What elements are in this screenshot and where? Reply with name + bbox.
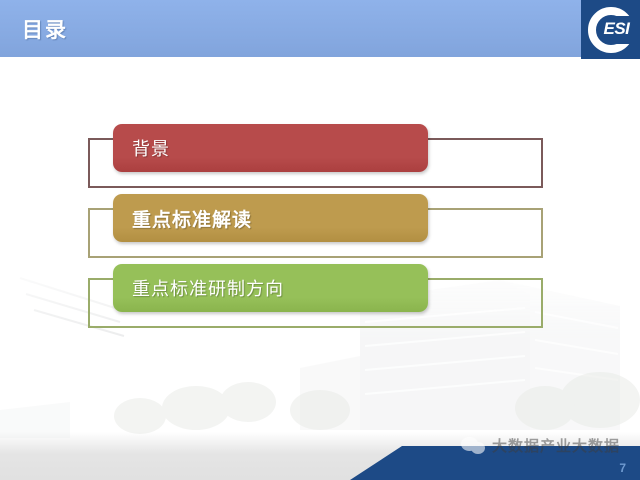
toc-item-1-pill[interactable]: 背景 (113, 124, 428, 172)
toc-item-1[interactable]: 背景 (88, 124, 543, 188)
toc-item-2-label: 重点标准解读 (132, 205, 252, 232)
toc-item-2[interactable]: 重点标准解读 (88, 194, 543, 258)
toc-item-3-pill[interactable]: 重点标准研制方向 (113, 264, 428, 312)
toc-item-3-label: 重点标准研制方向 (132, 275, 284, 301)
slide-footer: 7 (0, 446, 640, 480)
table-of-contents: 背景 重点标准解读 重点标准研制方向 (0, 0, 640, 480)
presentation-slide: 目录 ESI 背景 重点标准解读 重点标准研制方向 (0, 0, 640, 480)
toc-item-3[interactable]: 重点标准研制方向 (88, 264, 543, 328)
toc-item-1-label: 背景 (132, 135, 170, 161)
toc-item-2-pill[interactable]: 重点标准解读 (113, 194, 428, 242)
page-number: 7 (619, 461, 626, 475)
